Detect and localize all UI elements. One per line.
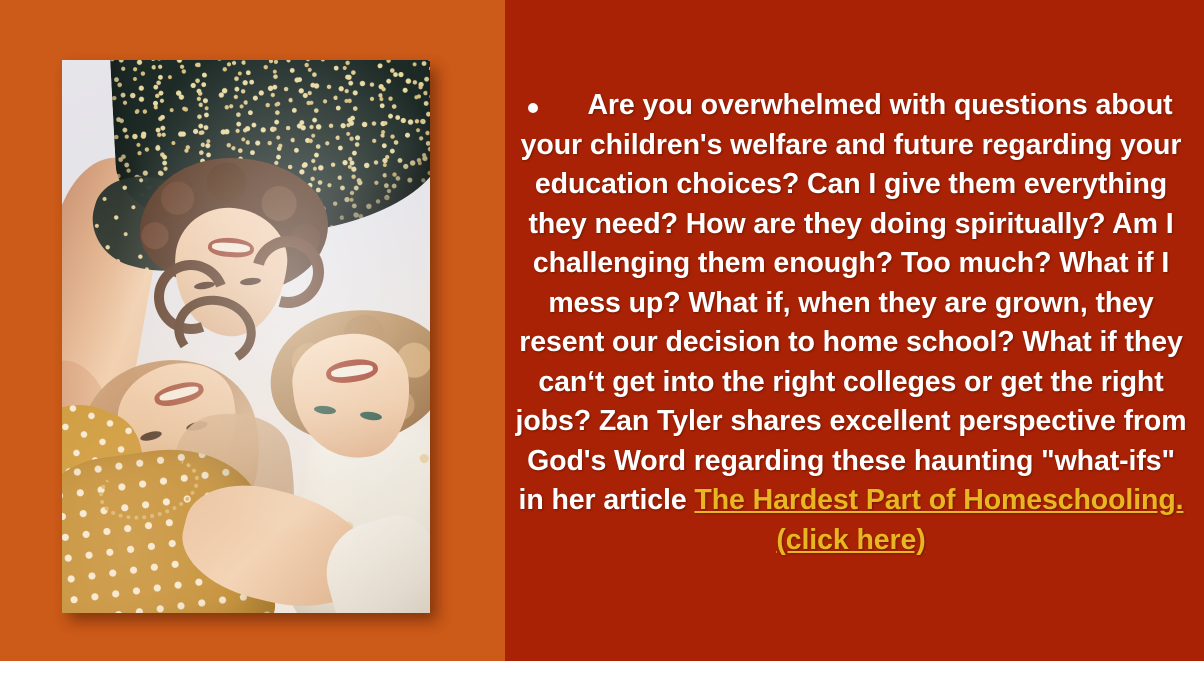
- bullet-point-icon: [528, 103, 538, 113]
- body-paragraph: Are you overwhelmed with questions about…: [515, 86, 1187, 560]
- text-column: Are you overwhelmed with questions about…: [515, 86, 1187, 560]
- bottom-white-strip: [0, 661, 1204, 677]
- photo-canvas: [62, 60, 430, 613]
- photo-of-three-girls: [62, 60, 430, 613]
- body-text: Are you overwhelmed with questions about…: [516, 89, 1187, 516]
- slide-canvas: Are you overwhelmed with questions about…: [0, 0, 1204, 677]
- article-link[interactable]: The Hardest Part of Homeschooling. (clic…: [694, 484, 1183, 556]
